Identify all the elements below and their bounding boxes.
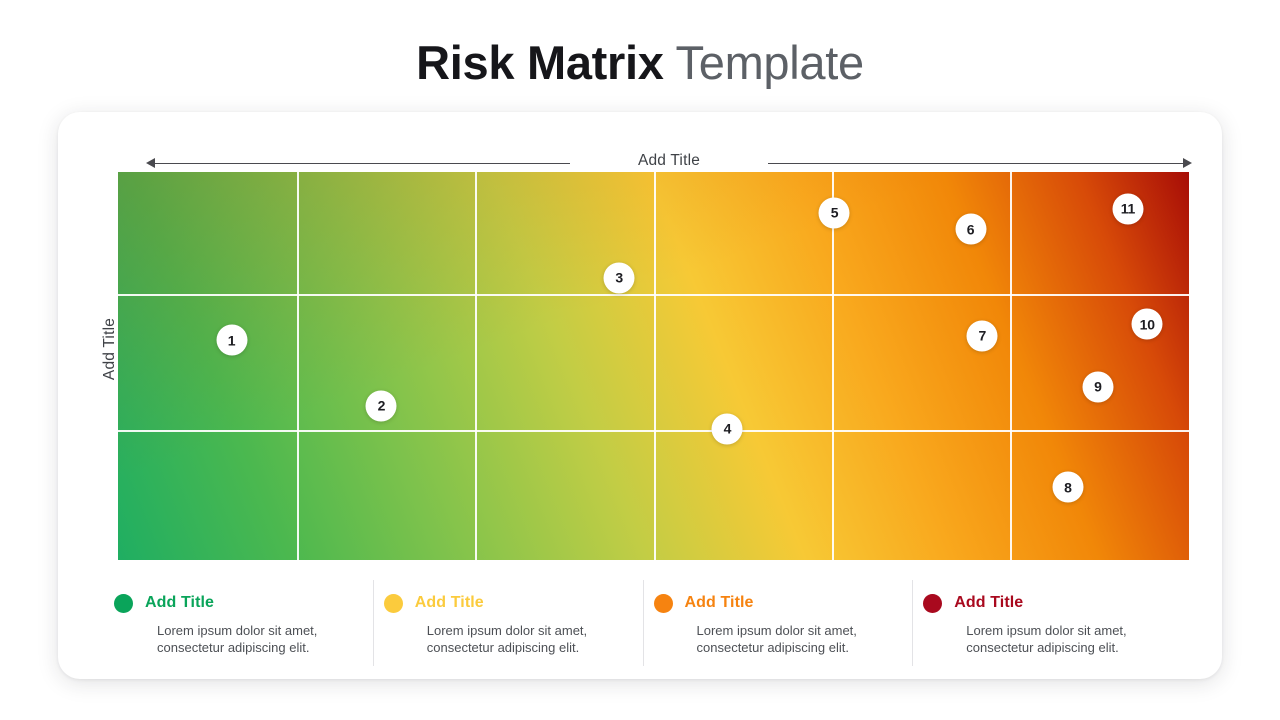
legend-item[interactable]: Add TitleLorem ipsum dolor sit amet, con… [912, 580, 1182, 666]
risk-matrix-heatmap[interactable]: 1234567891011 [118, 172, 1189, 560]
legend-dot-icon [384, 594, 403, 613]
risk-marker-10[interactable]: 10 [1132, 309, 1163, 340]
legend-item-title[interactable]: Add Title [415, 594, 484, 612]
risk-marker-2[interactable]: 2 [366, 390, 397, 421]
page-title: Risk Matrix Template [0, 34, 1280, 92]
risk-marker-1[interactable]: 1 [216, 325, 247, 356]
matrix-shading-overlay [118, 172, 1189, 560]
matrix-gridline-horizontal [118, 430, 1189, 432]
legend-item[interactable]: Add TitleLorem ipsum dolor sit amet, con… [104, 580, 373, 666]
slide-canvas: Risk Matrix Template Add Title Add Title… [0, 0, 1280, 720]
legend-item-description[interactable]: Lorem ipsum dolor sit amet, consectetur … [697, 622, 887, 656]
arrow-right-icon [1183, 158, 1192, 168]
risk-marker-11[interactable]: 11 [1112, 193, 1143, 224]
legend-item[interactable]: Add TitleLorem ipsum dolor sit amet, con… [373, 580, 643, 666]
matrix-card: Add Title Add Title 1234567891011 Add Ti… [58, 112, 1222, 679]
risk-marker-5[interactable]: 5 [819, 197, 850, 228]
page-title-strong: Risk Matrix [416, 36, 663, 89]
risk-marker-7[interactable]: 7 [967, 320, 998, 351]
legend-item-description[interactable]: Lorem ipsum dolor sit amet, consectetur … [966, 622, 1156, 656]
matrix-gridline-horizontal [118, 294, 1189, 296]
matrix-gridline-vertical [654, 172, 656, 560]
legend-item-header: Add Title [923, 590, 1156, 616]
legend-item-title[interactable]: Add Title [145, 594, 214, 612]
legend-item-header: Add Title [654, 590, 887, 616]
legend-item-header: Add Title [384, 590, 617, 616]
legend-item[interactable]: Add TitleLorem ipsum dolor sit amet, con… [643, 580, 913, 666]
risk-marker-9[interactable]: 9 [1082, 371, 1113, 402]
matrix-gridline-vertical [1010, 172, 1012, 560]
page-title-light: Template [676, 36, 864, 89]
matrix-gridline-vertical [475, 172, 477, 560]
risk-marker-8[interactable]: 8 [1052, 472, 1083, 503]
matrix-gridlines [118, 172, 1189, 560]
x-axis-line-left [154, 163, 570, 164]
legend-item-title[interactable]: Add Title [685, 594, 754, 612]
x-axis-line-right [768, 163, 1184, 164]
legend-dot-icon [654, 594, 673, 613]
x-axis-label[interactable]: Add Title [570, 152, 768, 170]
legend-dot-icon [923, 594, 942, 613]
legend-dot-icon [114, 594, 133, 613]
risk-marker-6[interactable]: 6 [955, 214, 986, 245]
risk-marker-3[interactable]: 3 [604, 262, 635, 293]
legend-item-header: Add Title [114, 590, 347, 616]
legend-item-description[interactable]: Lorem ipsum dolor sit amet, consectetur … [157, 622, 347, 656]
legend: Add TitleLorem ipsum dolor sit amet, con… [104, 580, 1182, 666]
y-axis-label[interactable]: Add Title [101, 274, 119, 424]
risk-marker-4[interactable]: 4 [712, 413, 743, 444]
matrix-gridline-vertical [832, 172, 834, 560]
legend-item-description[interactable]: Lorem ipsum dolor sit amet, consectetur … [427, 622, 617, 656]
legend-item-title[interactable]: Add Title [954, 594, 1023, 612]
matrix-gridline-vertical [297, 172, 299, 560]
